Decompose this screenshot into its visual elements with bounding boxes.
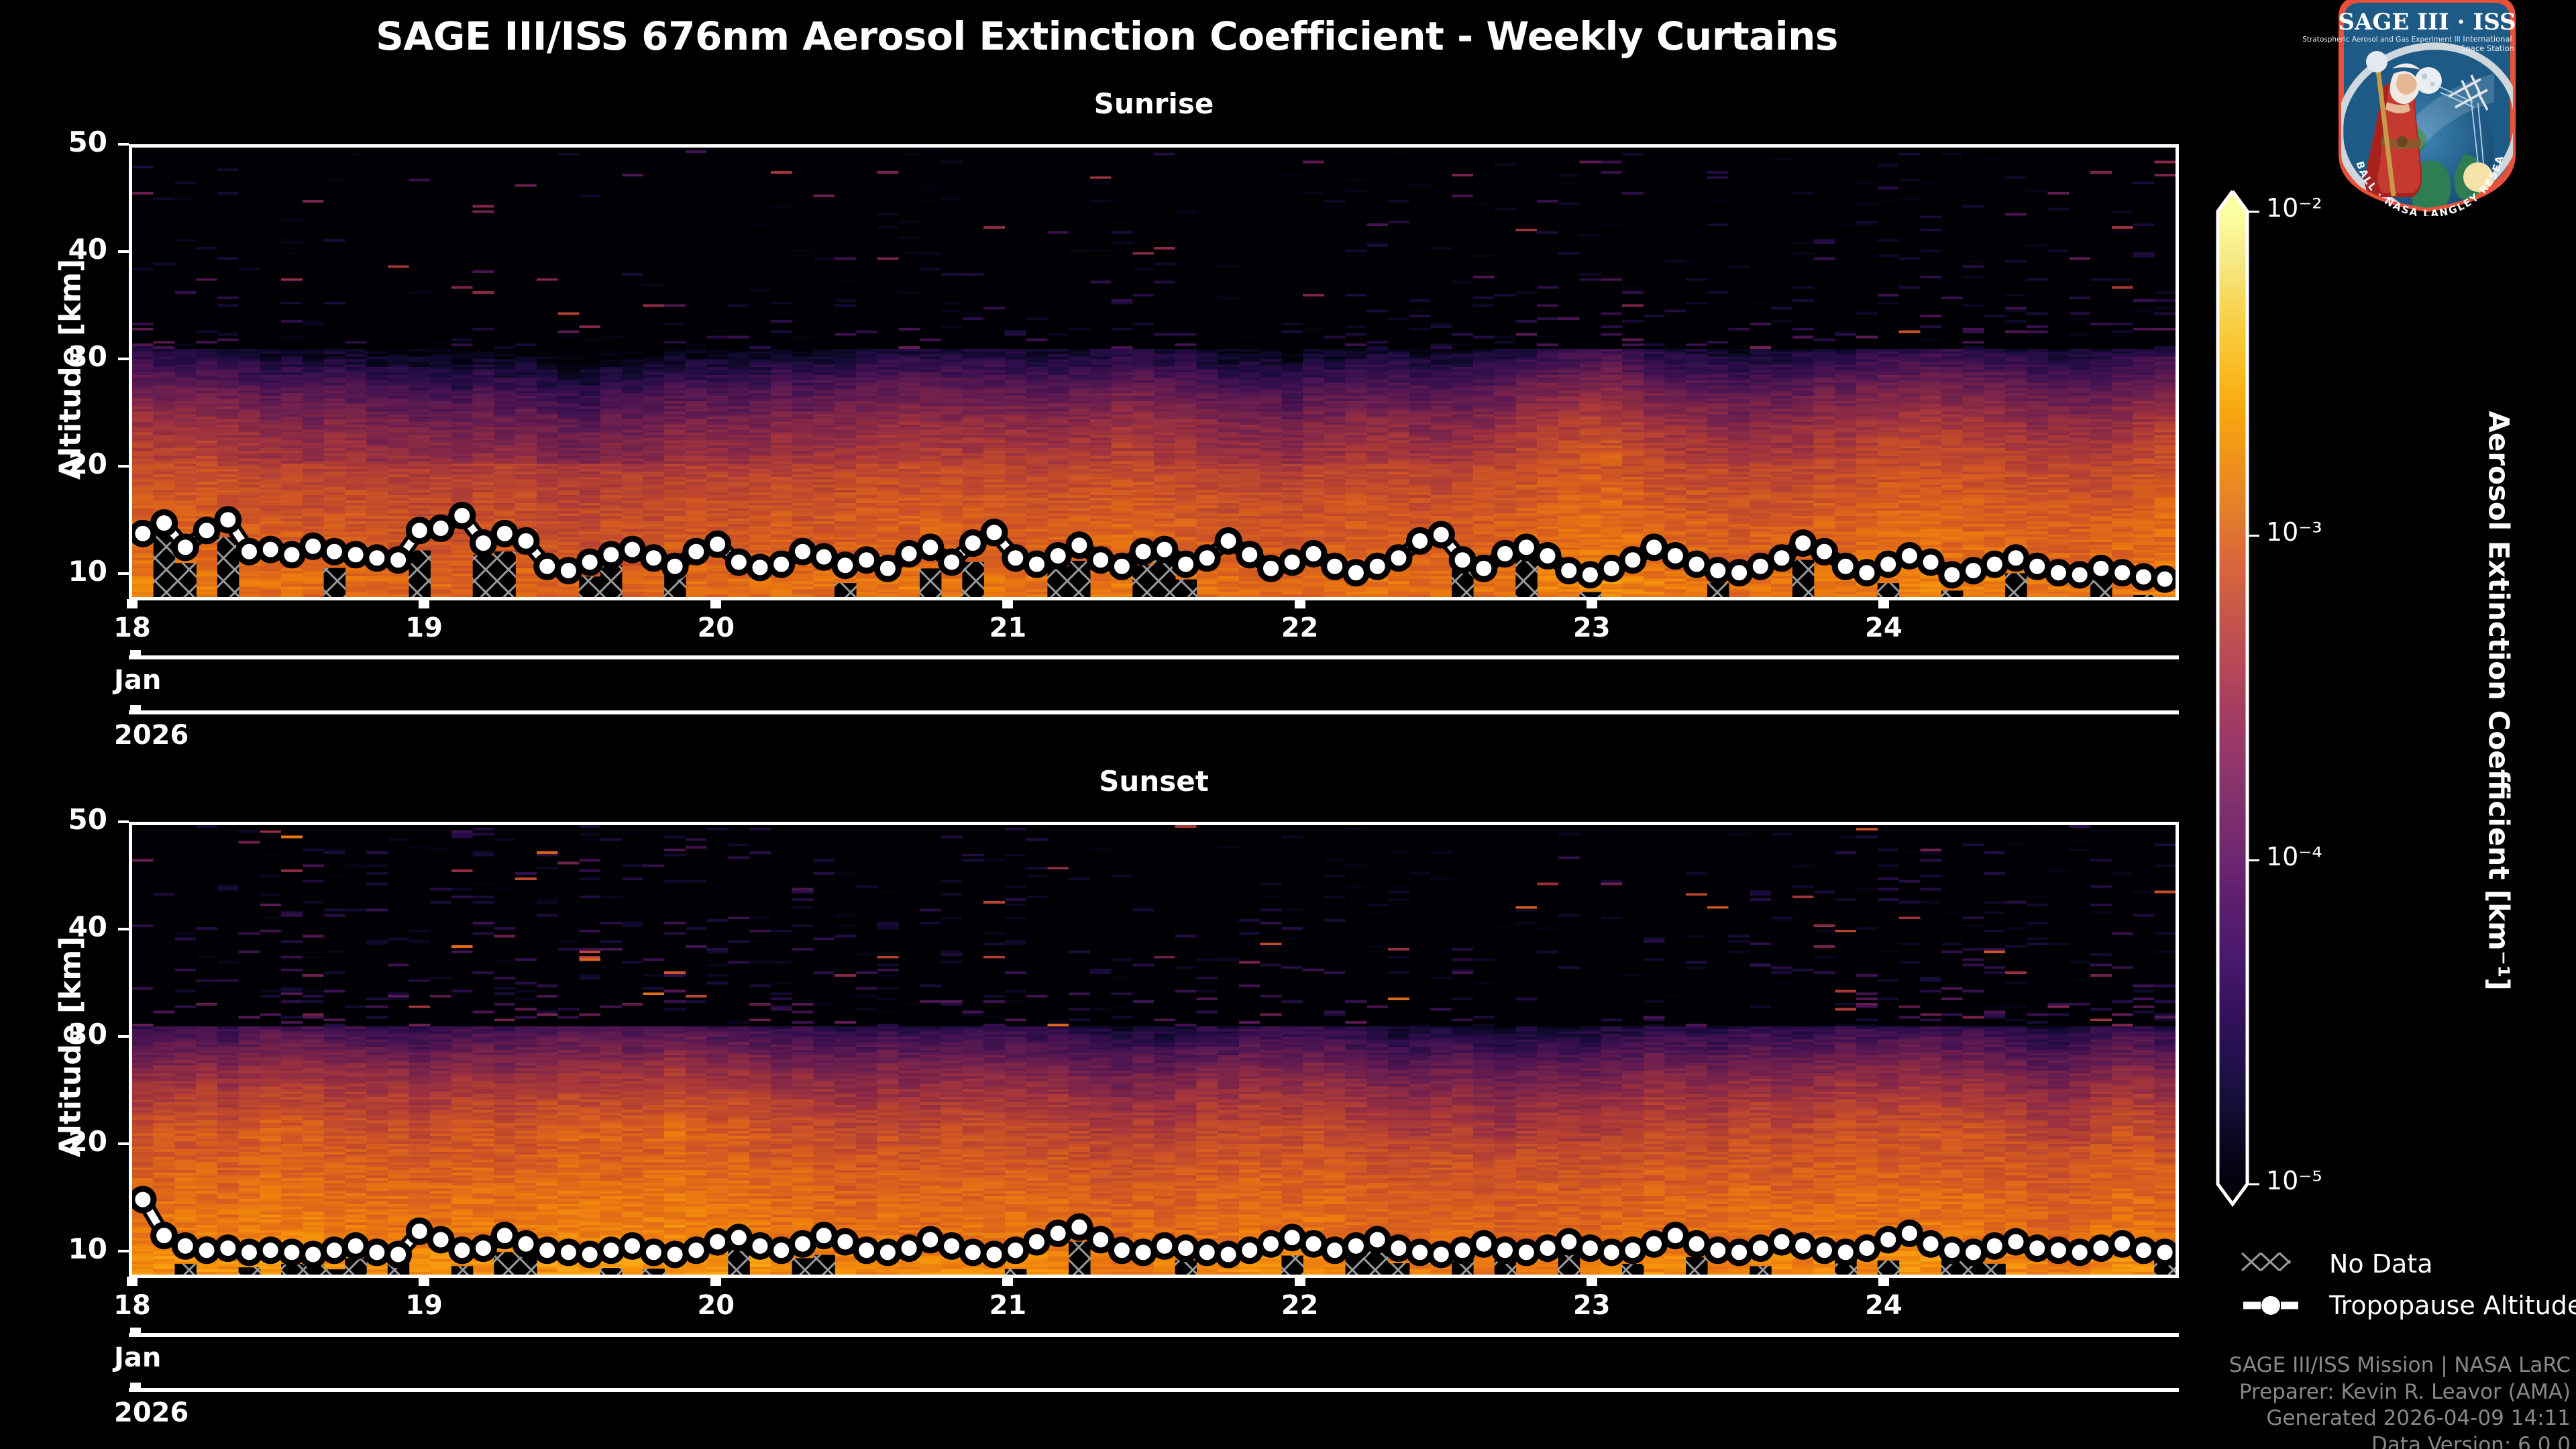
y-tick-mark bbox=[118, 572, 129, 575]
footer-line-mission: SAGE III/ISS Mission | NASA LaRC bbox=[2229, 1352, 2571, 1379]
logo-subtitle-right-1: International bbox=[2463, 34, 2512, 44]
y-tick-label: 10 bbox=[20, 555, 107, 588]
panel-title-sunset: Sunset bbox=[129, 765, 2179, 798]
y-tick-label: 10 bbox=[20, 1232, 107, 1265]
x-tick-label: 24 bbox=[1837, 1290, 1931, 1321]
x-axis-month-rule bbox=[129, 655, 2179, 659]
figure-canvas: SAGE III/ISS 676nm Aerosol Extinction Co… bbox=[0, 0, 2576, 1449]
x-tick-label: 23 bbox=[1545, 612, 1639, 643]
no-data-hatch-swatch bbox=[2241, 1248, 2316, 1280]
x-tick-label: 19 bbox=[377, 612, 471, 643]
x-tick-mark bbox=[1587, 1277, 1597, 1286]
x-tick-label: 23 bbox=[1545, 1290, 1639, 1321]
x-axis-month-rule bbox=[129, 1333, 2179, 1337]
footer-credits: SAGE III/ISS Mission | NASA LaRC Prepare… bbox=[2229, 1352, 2571, 1449]
y-tick-mark bbox=[118, 820, 129, 823]
x-tick-mark bbox=[1295, 599, 1305, 608]
y-tick-label: 20 bbox=[20, 1125, 107, 1158]
x-axis-month-label: Jan bbox=[114, 1342, 161, 1373]
x-axis-year-tick bbox=[130, 705, 141, 714]
colorbar-tick-label: 10⁻³ bbox=[2266, 517, 2322, 547]
x-tick-label: 19 bbox=[377, 1290, 471, 1321]
x-tick-mark bbox=[127, 599, 138, 608]
x-tick-mark bbox=[1878, 599, 1889, 608]
overlay-sunrise bbox=[132, 148, 2176, 597]
mission-patch-logo: BALL · NASA LANGLEY RESEARCH CENTER · TA… bbox=[2279, 0, 2575, 216]
x-axis-year-rule bbox=[129, 1388, 2179, 1392]
x-tick-mark bbox=[1002, 1277, 1013, 1286]
colorbar-tick-mark bbox=[2249, 859, 2259, 861]
footer-line-version: Data Version: 6.0.0 bbox=[2229, 1432, 2571, 1449]
y-tick-mark bbox=[118, 465, 129, 468]
logo-title: SAGE III · ISS bbox=[2338, 9, 2516, 36]
y-tick-mark bbox=[118, 358, 129, 360]
x-tick-mark bbox=[1002, 599, 1013, 608]
legend-item-tropopause[interactable]: Tropopause Altitude bbox=[2241, 1289, 2576, 1322]
y-tick-label: 30 bbox=[20, 340, 107, 373]
legend-label-tropopause: Tropopause Altitude bbox=[2329, 1291, 2576, 1320]
y-tick-label: 50 bbox=[20, 803, 107, 836]
panel-title-sunrise: Sunrise bbox=[129, 87, 2179, 120]
overlay-sunset bbox=[132, 825, 2176, 1275]
x-tick-mark bbox=[419, 1277, 429, 1286]
x-axis-year-label: 2026 bbox=[114, 720, 189, 751]
legend-label-no-data: No Data bbox=[2329, 1249, 2433, 1279]
x-tick-label: 22 bbox=[1253, 612, 1347, 643]
x-axis-month-tick bbox=[130, 650, 141, 659]
y-tick-mark bbox=[118, 1035, 129, 1038]
footer-line-generated: Generated 2026-04-09 14:11 bbox=[2229, 1405, 2571, 1432]
x-tick-mark bbox=[1878, 1277, 1889, 1286]
y-tick-mark bbox=[118, 250, 129, 253]
y-tick-mark bbox=[118, 1142, 129, 1145]
y-tick-mark bbox=[118, 143, 129, 146]
x-axis-year-rule bbox=[129, 710, 2179, 714]
colorbar[interactable] bbox=[2214, 188, 2288, 1207]
x-tick-label: 21 bbox=[961, 1290, 1055, 1321]
colorbar-tick-label: 10⁻⁵ bbox=[2266, 1166, 2322, 1195]
y-tick-label: 30 bbox=[20, 1018, 107, 1051]
x-tick-label: 18 bbox=[85, 1290, 179, 1321]
colorbar-tick-mark bbox=[2249, 211, 2259, 213]
x-tick-label: 24 bbox=[1837, 612, 1931, 643]
footer-line-preparer: Preparer: Kevin R. Leavor (AMA) bbox=[2229, 1379, 2571, 1406]
x-tick-label: 18 bbox=[85, 612, 179, 643]
y-tick-mark bbox=[118, 928, 129, 930]
colorbar-tick-mark bbox=[2249, 535, 2259, 537]
tropopause-line-marker-swatch bbox=[2241, 1289, 2316, 1322]
colorbar-tick-label: 10⁻⁴ bbox=[2266, 842, 2322, 871]
x-axis-year-label: 2026 bbox=[114, 1397, 189, 1428]
x-tick-mark bbox=[1587, 599, 1597, 608]
legend-item-no-data[interactable]: No Data bbox=[2241, 1248, 2433, 1280]
x-tick-mark bbox=[710, 1277, 721, 1286]
plot-area-sunset[interactable] bbox=[129, 822, 2179, 1278]
colorbar-tick-mark bbox=[2249, 1183, 2259, 1185]
legend: No Data Tropopause Altitude bbox=[2241, 1248, 2576, 1335]
x-axis-month-tick bbox=[130, 1328, 141, 1337]
y-tick-label: 40 bbox=[20, 910, 107, 943]
x-tick-label: 21 bbox=[961, 612, 1055, 643]
y-tick-mark bbox=[118, 1250, 129, 1252]
x-tick-mark bbox=[710, 599, 721, 608]
y-tick-label: 40 bbox=[20, 233, 107, 266]
logo-subtitle-left: Stratospheric Aerosol and Gas Experiment… bbox=[2302, 36, 2461, 44]
y-tick-label: 20 bbox=[20, 447, 107, 480]
y-tick-label: 50 bbox=[20, 125, 107, 158]
x-tick-mark bbox=[1295, 1277, 1305, 1286]
x-tick-label: 22 bbox=[1253, 1290, 1347, 1321]
x-axis-month-label: Jan bbox=[114, 665, 161, 696]
x-tick-label: 20 bbox=[669, 1290, 763, 1321]
figure-title: SAGE III/ISS 676nm Aerosol Extinction Co… bbox=[0, 13, 2214, 59]
x-axis-year-tick bbox=[130, 1383, 141, 1392]
x-tick-mark bbox=[419, 599, 429, 608]
x-tick-mark bbox=[127, 1277, 138, 1286]
x-tick-label: 20 bbox=[669, 612, 763, 643]
colorbar-label: Aerosol Extinction Coefficient [km⁻¹] bbox=[2483, 399, 2516, 1003]
logo-subtitle-right-2: Space Station bbox=[2461, 44, 2514, 53]
plot-area-sunrise[interactable] bbox=[129, 144, 2179, 600]
